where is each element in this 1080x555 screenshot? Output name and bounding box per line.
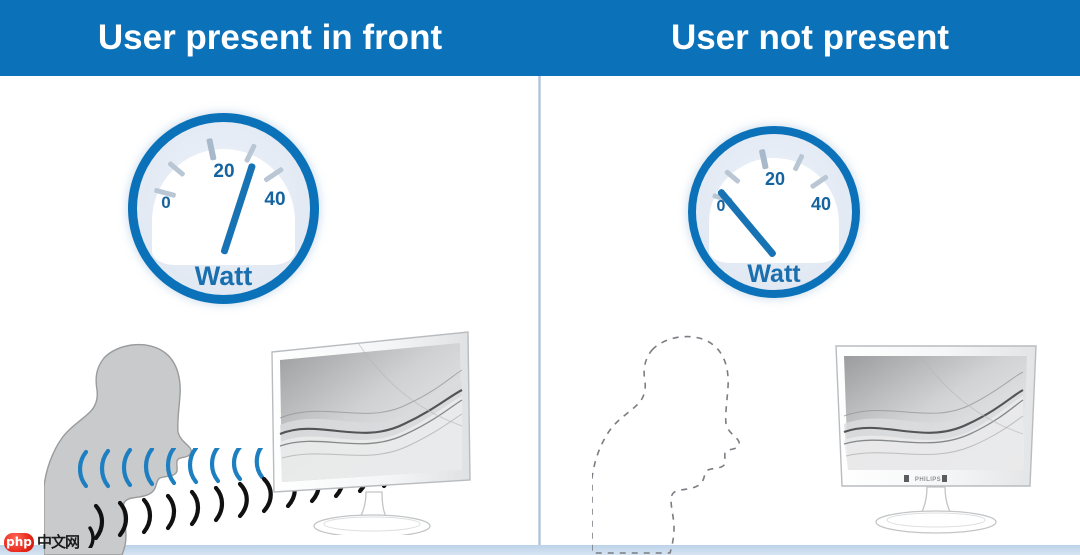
monitor-brand-label: PHILIPS — [915, 477, 941, 483]
gauge-left: 0 20 40 Watt — [128, 113, 319, 304]
gauge-label-40-left: 40 — [257, 189, 293, 211]
panel-title-left: User present in front — [0, 0, 540, 76]
gauge-label-20-left: 20 — [206, 161, 242, 183]
gauge-unit-right: Watt — [688, 260, 860, 289]
gauge-label-0-left: 0 — [154, 193, 178, 213]
watermark: php 中文网 — [4, 533, 79, 552]
gauge-right: 0 20 40 Watt — [688, 126, 860, 298]
panel-title-right: User not present — [540, 0, 1080, 76]
watermark-text: 中文网 — [37, 534, 79, 551]
gauge-unit-left: Watt — [128, 261, 319, 292]
watermark-badge: php — [4, 533, 34, 552]
slide-canvas: User present in front User not present 0… — [0, 0, 1080, 555]
gauge-label-40-right: 40 — [804, 194, 838, 215]
gauge-label-20-right: 20 — [758, 169, 792, 190]
monitor-left — [262, 330, 488, 535]
user-silhouette-absent — [592, 332, 782, 554]
panel-divider — [538, 76, 541, 546]
monitor-right: PHILIPS — [824, 342, 1050, 537]
